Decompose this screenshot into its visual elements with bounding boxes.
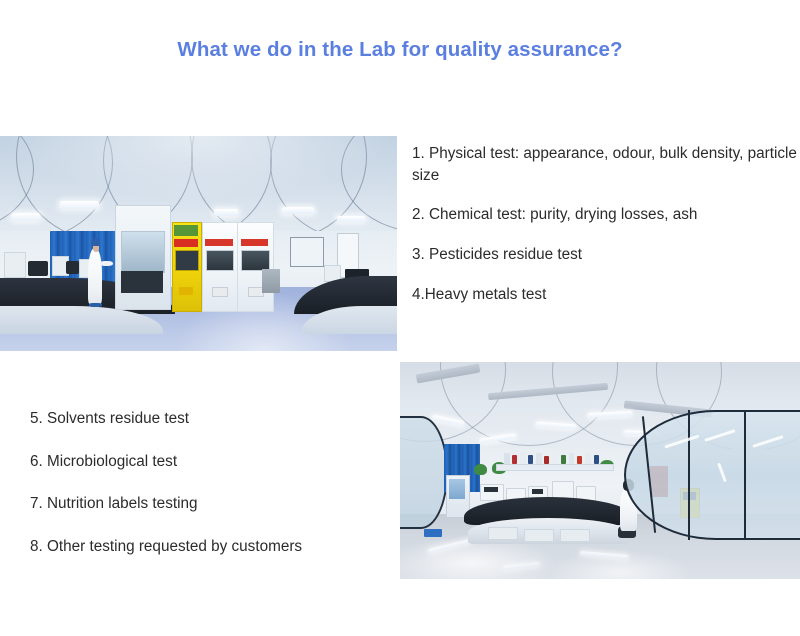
tests-list-panel-bottom: 5. Solvents residue test 6. Microbiologi… [0,360,397,580]
cabinet-hazard-icon [212,287,227,298]
reagent-bottle [504,453,510,464]
cabinet-hazard-icon [179,287,193,296]
cabinet-window [206,250,234,271]
page-title: What we do in the Lab for quality assura… [177,38,622,62]
bench-cabinet-door [524,529,554,542]
lab-instrument [552,481,574,498]
reagent-bottle [561,455,566,464]
list-item: 1. Physical test: appearance, odour, bul… [412,143,800,186]
glass-mullion [688,410,690,540]
tests-list-top: 1. Physical test: appearance, odour, bul… [412,143,800,324]
ceiling-light-icon [60,201,100,210]
fume-hood-interior [121,271,163,293]
lab-equipment-dark [28,261,48,276]
list-item: 5. Solvents residue test [30,408,390,430]
tests-list-panel-top: 1. Physical test: appearance, odour, bul… [397,136,800,351]
bench-cabinet-door [488,527,518,540]
technician-shoes [89,303,102,307]
reagent-shelf [496,464,614,471]
list-item: 3. Pesticides residue test [412,244,800,266]
refrigerator-window [449,479,465,499]
reagent-bottle [528,455,533,464]
reagent-bottle [520,452,526,464]
list-item: 4.Heavy metals test [412,284,800,306]
fume-hood-sash [121,231,165,274]
ceiling-light-icon [214,209,238,215]
cabinet-warning-label [241,239,269,246]
ceiling-light-icon [12,213,40,221]
potted-plant [474,464,487,475]
lab-panorama-instrument-room [0,136,397,351]
instrument-display [532,489,543,494]
reagent-bottle [552,453,558,464]
panorama-scene-instrument-room [0,136,397,351]
wall-notice-board [290,237,324,267]
list-item: 8. Other testing requested by customers [30,536,390,558]
technician-arm [100,261,113,266]
list-item: 2. Chemical test: purity, drying losses,… [412,204,800,226]
ceiling-light-icon [282,207,314,214]
reagent-bottle [585,453,591,464]
cabinet-warning-label [205,239,233,246]
floor-crate [424,529,442,537]
grey-cabinet [262,269,280,293]
page-header: What we do in the Lab for quality assura… [0,0,800,100]
ceiling-light-icon [337,216,365,222]
cabinet-window [241,250,269,271]
lab-technician [88,248,102,304]
reagent-bottle [577,456,582,464]
reagent-bottle [512,455,517,464]
reagent-bottle [544,456,549,464]
cabinet-green-label [174,225,198,236]
reagent-bottle [536,453,542,464]
lab-equipment-dark [66,261,80,274]
cabinet-warning-label [174,239,198,247]
ceiling-highlight [0,136,397,226]
reagent-bottle [594,455,599,464]
reagent-bottle [569,453,575,464]
bench-cabinet-door [560,529,590,542]
list-item: 7. Nutrition labels testing [30,493,390,515]
lab-panorama-testing-room [400,362,800,579]
instrument-display [484,487,498,492]
lab-equipment [4,252,26,278]
list-item: 6. Microbiological test [30,451,390,473]
tests-list-bottom: 5. Solvents residue test 6. Microbiologi… [30,408,390,579]
glass-mullion [744,410,746,540]
panorama-scene-testing-room [400,362,800,579]
cabinet-window [175,250,199,271]
